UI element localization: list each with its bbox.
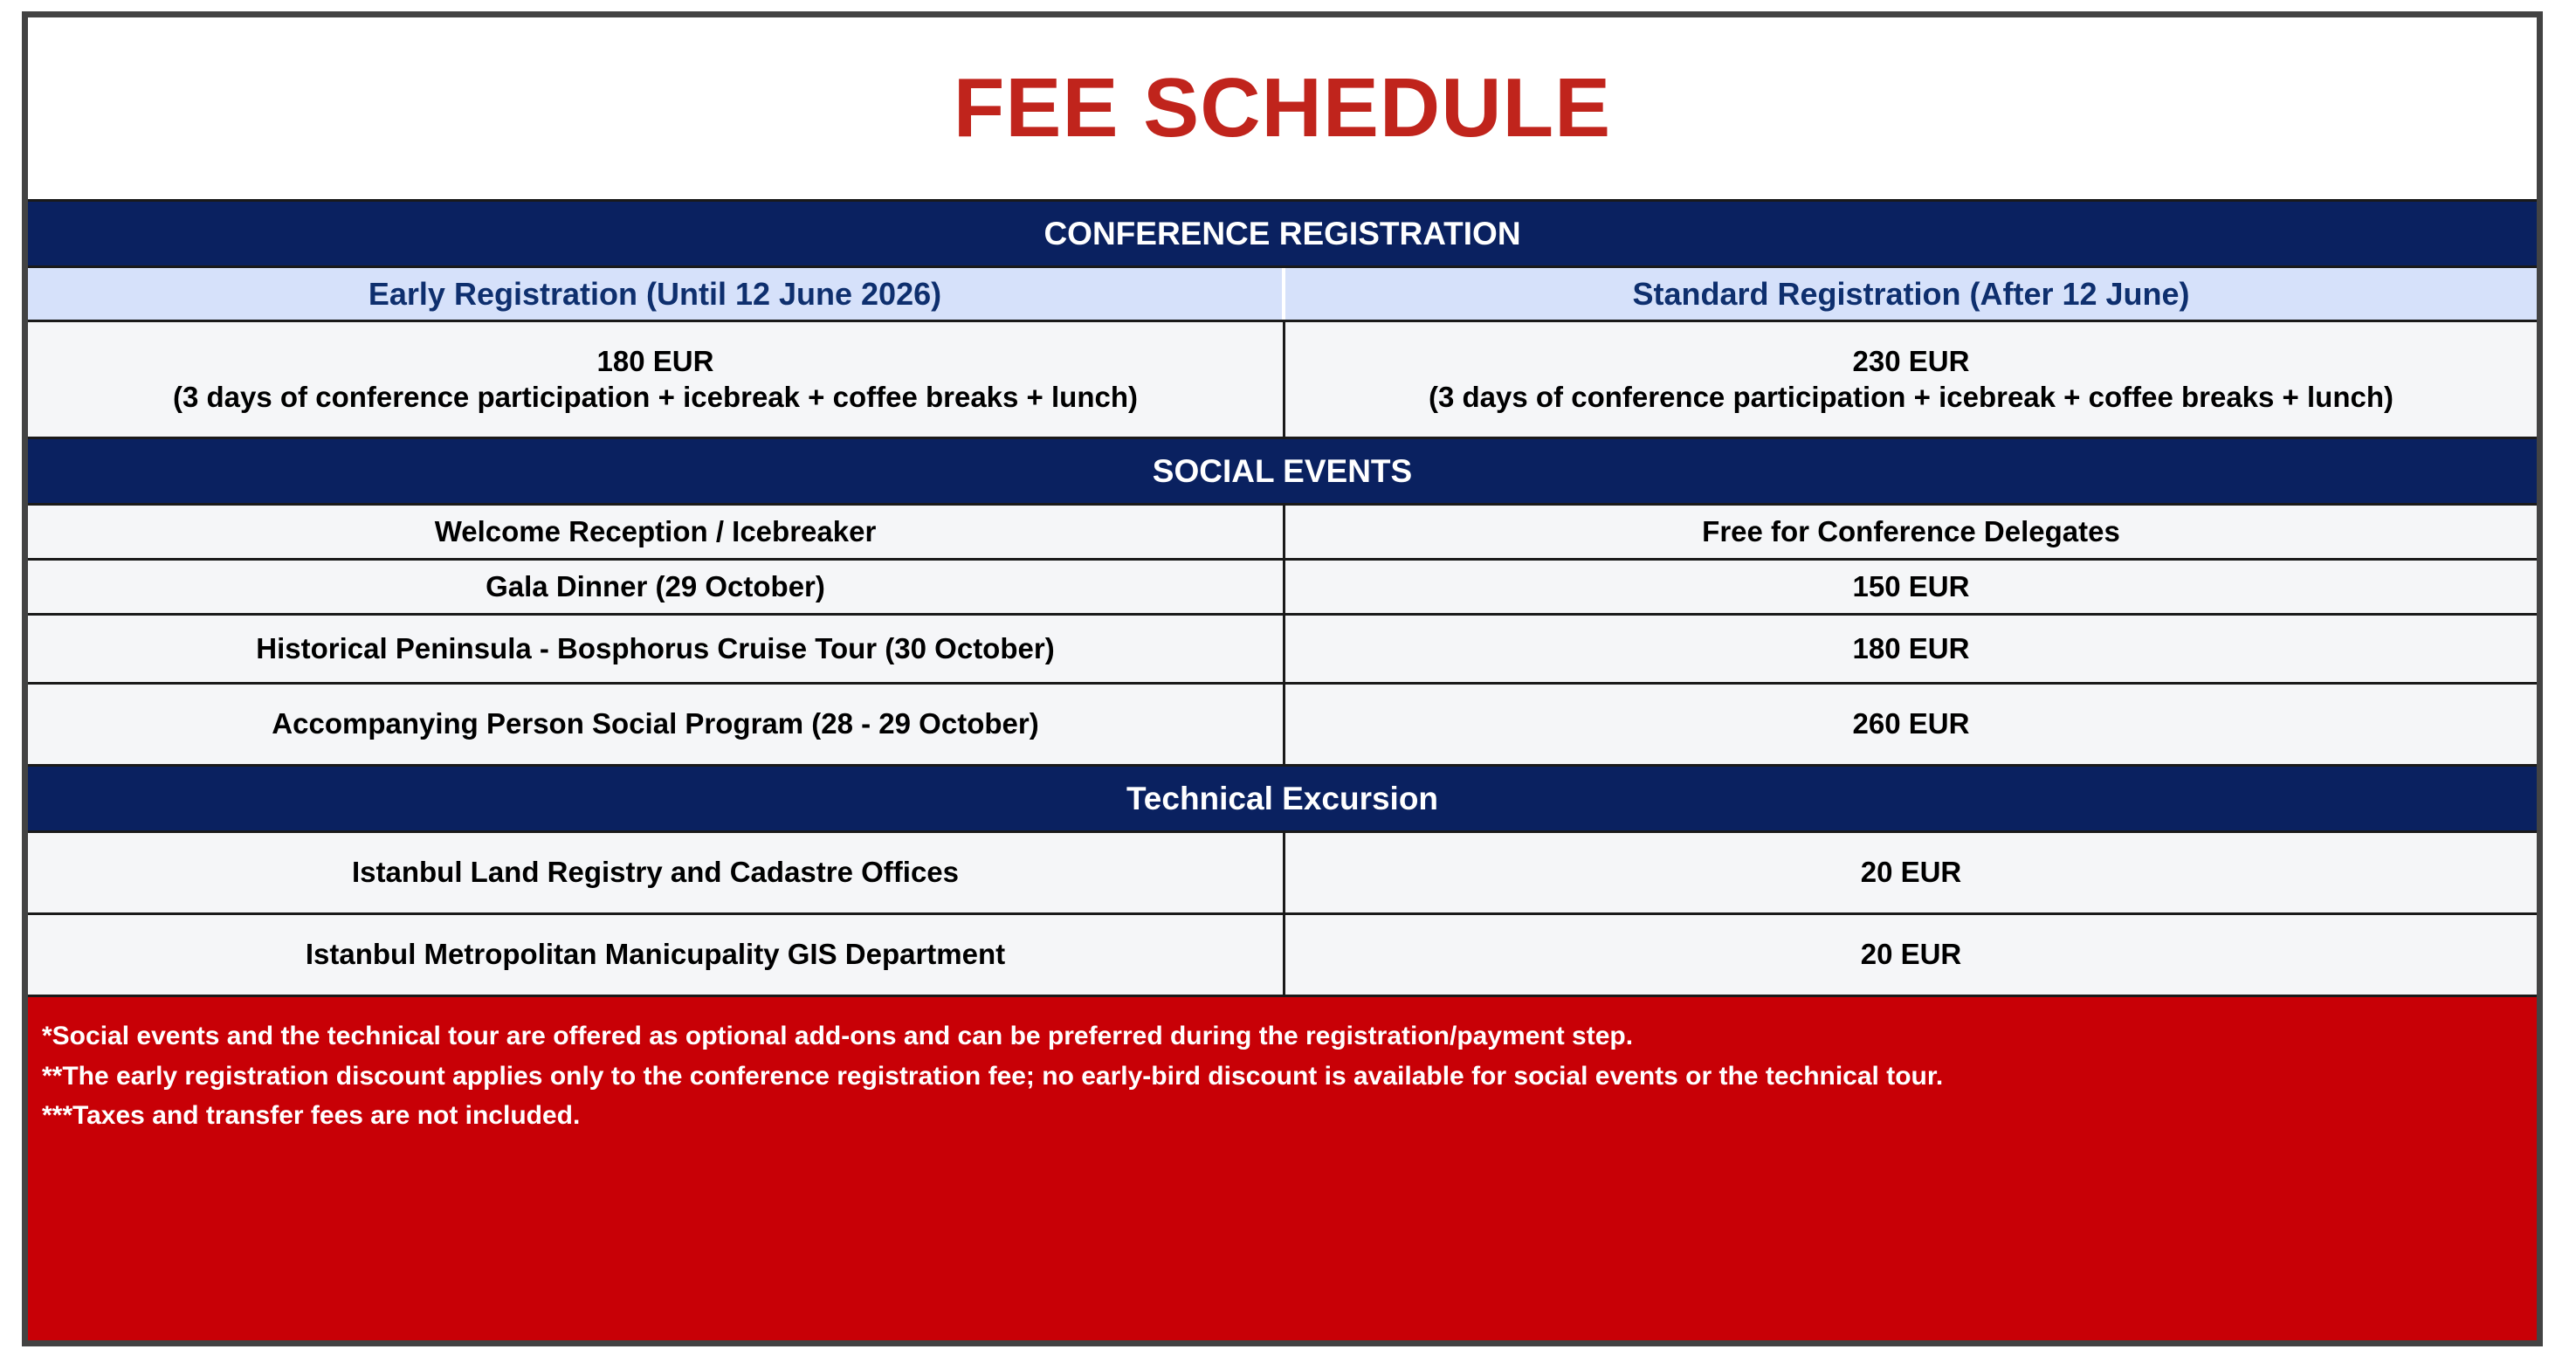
social-event-price-0: Free for Conference Delegates bbox=[1285, 506, 2537, 558]
page-title: FEE SCHEDULE bbox=[954, 66, 1611, 150]
table-row: Istanbul Land Registry and Cadastre Offi… bbox=[28, 833, 2537, 915]
footnote-3: ***Taxes and transfer fees are not inclu… bbox=[42, 1096, 2523, 1136]
social-event-price-1: 150 EUR bbox=[1285, 561, 2537, 613]
sheet: FEE SCHEDULE CONFERENCE REGISTRATION Ear… bbox=[28, 17, 2537, 1340]
standard-registration-amount: 230 EUR bbox=[1853, 344, 1970, 379]
technical-excursion-price-1: 20 EUR bbox=[1285, 915, 2537, 995]
table-row: Accompanying Person Social Program (28 -… bbox=[28, 685, 2537, 767]
registration-column-header-row: Early Registration (Until 12 June 2026) … bbox=[28, 268, 2537, 322]
standard-registration-detail: (3 days of conference participation + ic… bbox=[1429, 380, 2393, 415]
early-registration-fee-cell: 180 EUR (3 days of conference participat… bbox=[28, 322, 1285, 437]
technical-excursion-item-1: Istanbul Metropolitan Manicupality GIS D… bbox=[28, 915, 1285, 995]
column-header-early-registration: Early Registration (Until 12 June 2026) bbox=[28, 268, 1285, 320]
table-row: Welcome Reception / Icebreaker Free for … bbox=[28, 506, 2537, 561]
title-bar: FEE SCHEDULE bbox=[28, 17, 2537, 202]
fee-schedule-table: FEE SCHEDULE CONFERENCE REGISTRATION Ear… bbox=[22, 11, 2543, 1346]
social-event-item-0: Welcome Reception / Icebreaker bbox=[28, 506, 1285, 558]
early-registration-detail: (3 days of conference participation + ic… bbox=[173, 380, 1138, 415]
footnote-1: *Social events and the technical tour ar… bbox=[42, 1016, 2523, 1057]
section-band-social-events: SOCIAL EVENTS bbox=[28, 439, 2537, 506]
footnotes-block: *Social events and the technical tour ar… bbox=[28, 997, 2537, 1340]
footnote-2: **The early registration discount applie… bbox=[42, 1057, 2523, 1097]
table-row: Istanbul Metropolitan Manicupality GIS D… bbox=[28, 915, 2537, 997]
table-row: Historical Peninsula - Bosphorus Cruise … bbox=[28, 616, 2537, 685]
section-band-technical-excursion: Technical Excursion bbox=[28, 767, 2537, 833]
table-row: Gala Dinner (29 October) 150 EUR bbox=[28, 561, 2537, 616]
early-registration-amount: 180 EUR bbox=[597, 344, 714, 379]
section-band-conference-registration: CONFERENCE REGISTRATION bbox=[28, 202, 2537, 268]
registration-fee-row: 180 EUR (3 days of conference participat… bbox=[28, 322, 2537, 439]
standard-registration-fee-cell: 230 EUR (3 days of conference participat… bbox=[1285, 322, 2537, 437]
social-event-item-2: Historical Peninsula - Bosphorus Cruise … bbox=[28, 616, 1285, 682]
technical-excursion-item-0: Istanbul Land Registry and Cadastre Offi… bbox=[28, 833, 1285, 912]
social-event-item-3: Accompanying Person Social Program (28 -… bbox=[28, 685, 1285, 764]
column-header-standard-registration: Standard Registration (After 12 June) bbox=[1285, 268, 2537, 320]
social-event-price-3: 260 EUR bbox=[1285, 685, 2537, 764]
technical-excursion-price-0: 20 EUR bbox=[1285, 833, 2537, 912]
social-event-item-1: Gala Dinner (29 October) bbox=[28, 561, 1285, 613]
social-event-price-2: 180 EUR bbox=[1285, 616, 2537, 682]
